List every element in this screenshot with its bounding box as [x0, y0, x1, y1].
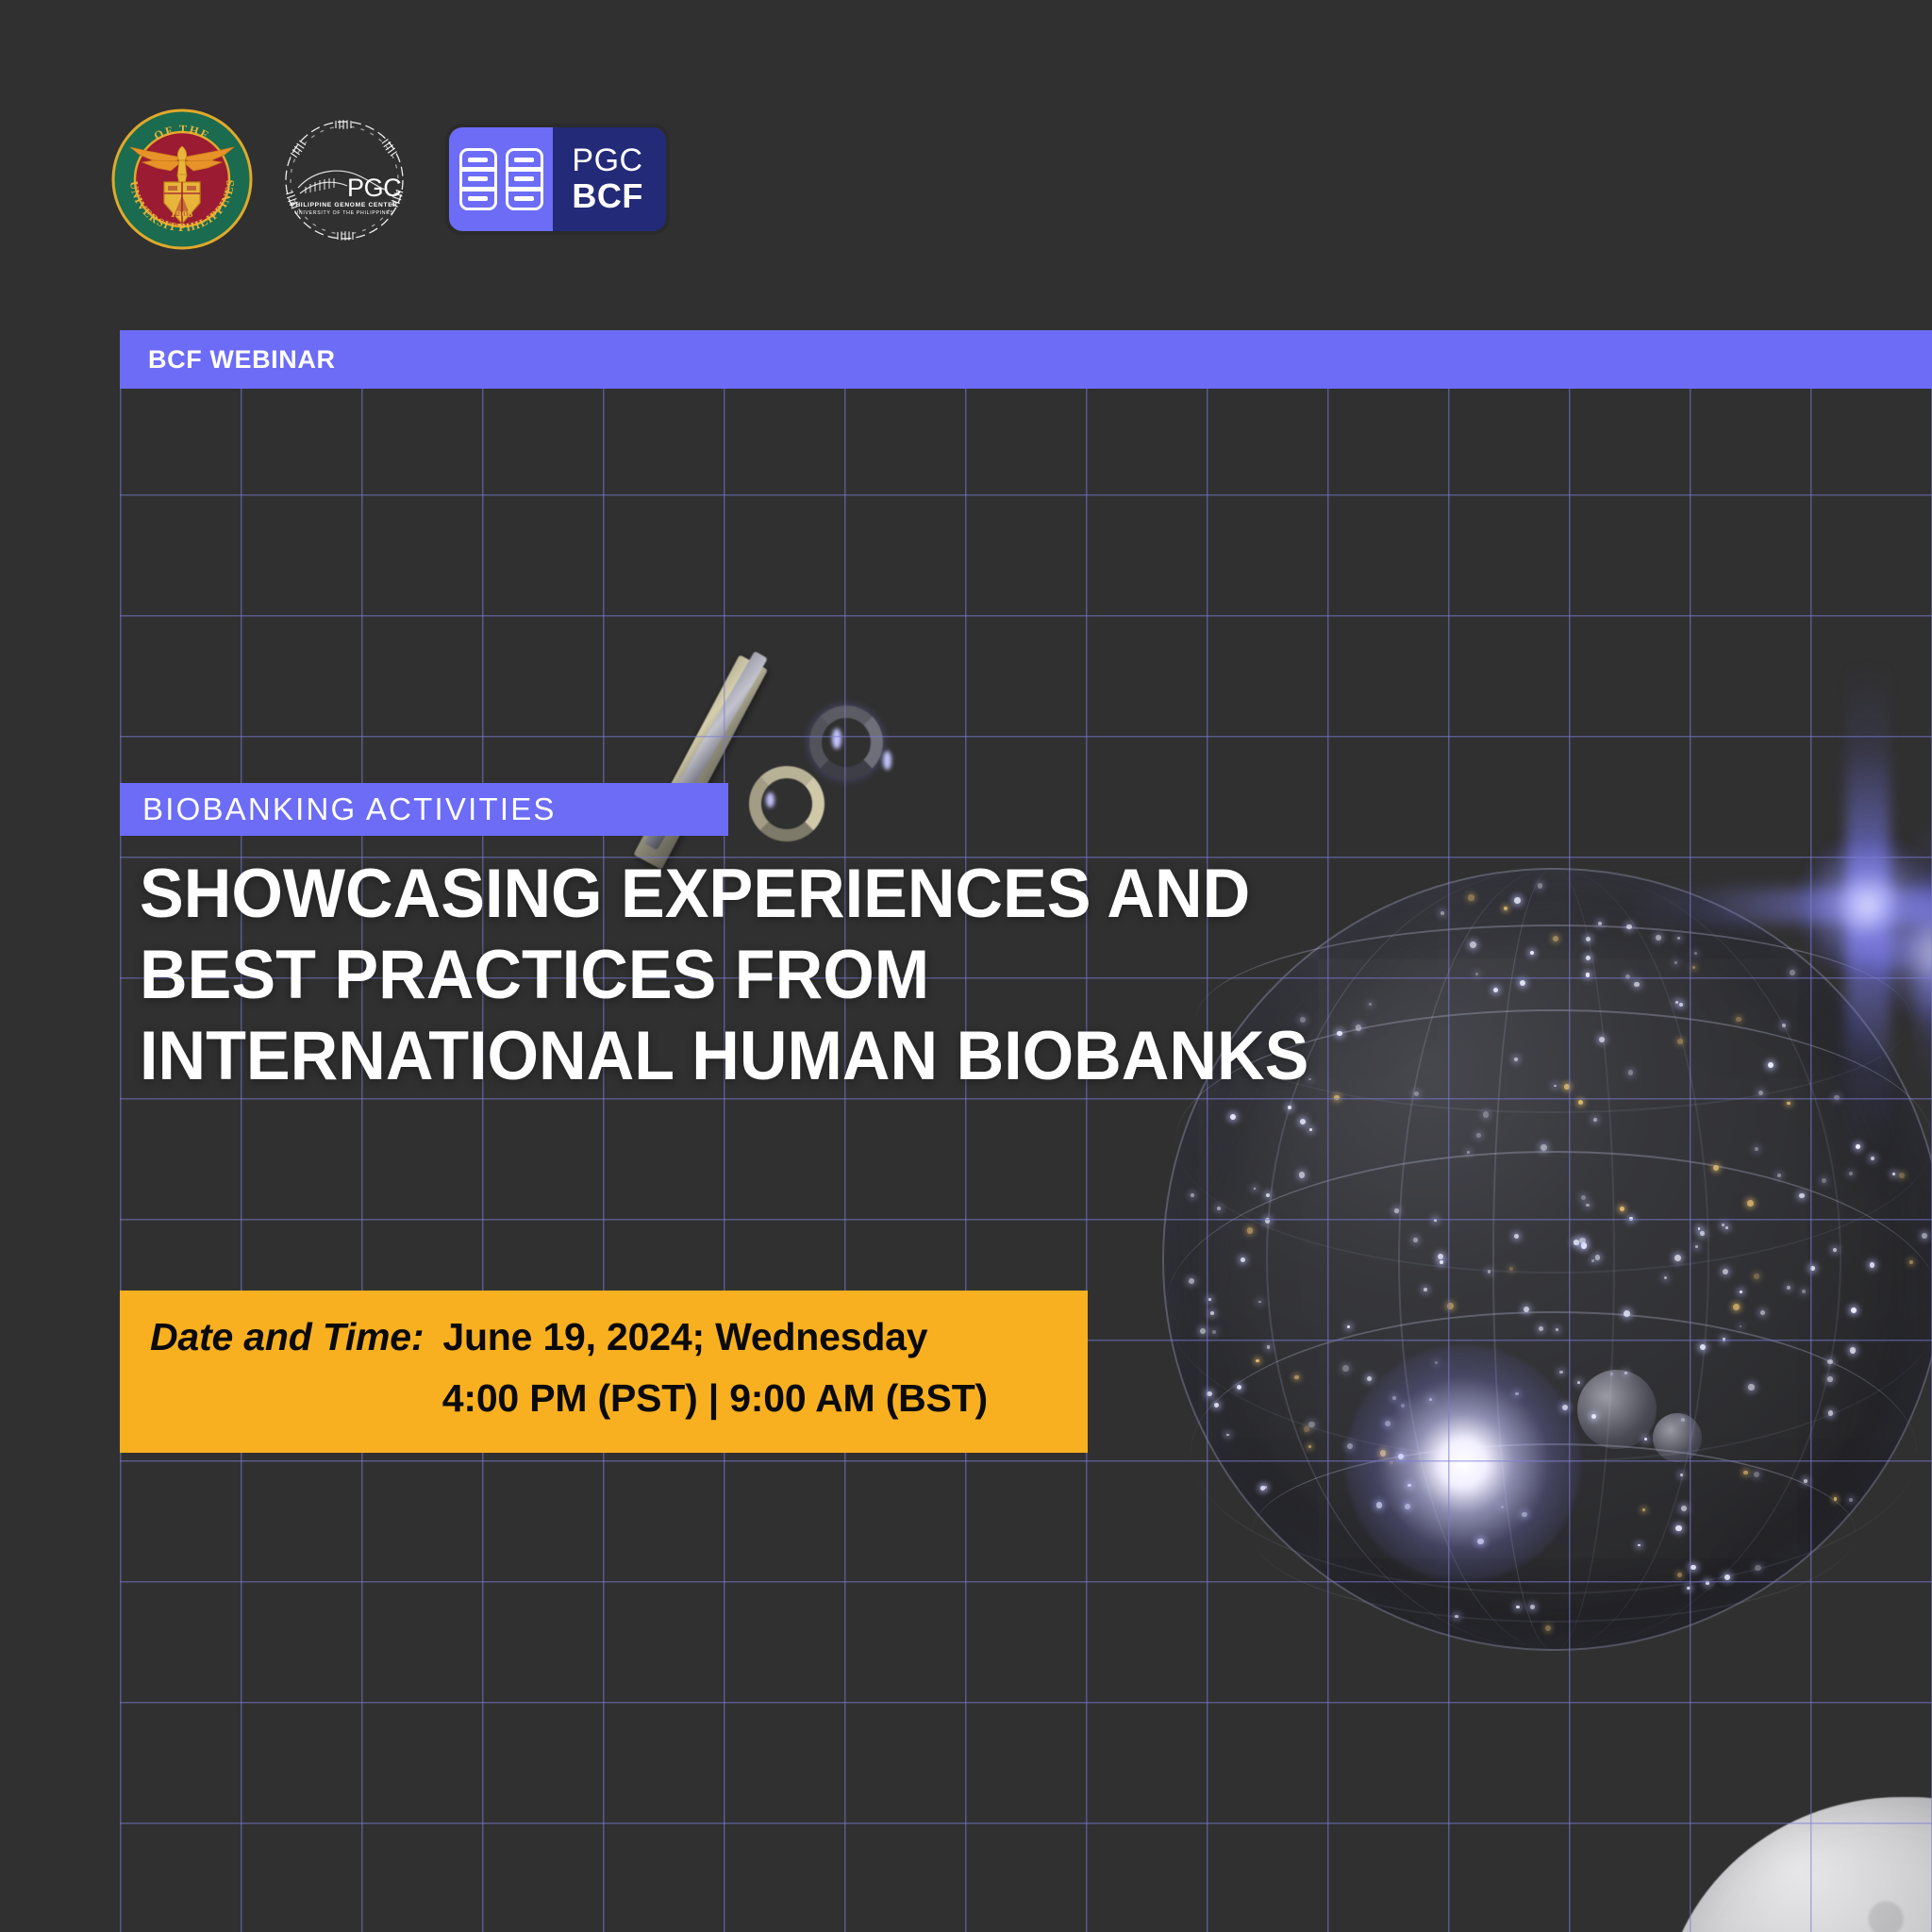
globe-node-dot — [1740, 1325, 1742, 1328]
globe-node-dot — [1483, 1111, 1489, 1117]
globe-node-dot — [1740, 1291, 1742, 1293]
globe-node-dot — [1687, 1587, 1690, 1591]
globe-node-dot — [1524, 1307, 1529, 1312]
globe-node-dot — [1849, 1498, 1853, 1502]
schedule-date-value: June 19, 2024; Wednesday — [442, 1315, 927, 1359]
abstract-3d-sculpture — [726, 660, 924, 877]
globe-node-dot — [1754, 1472, 1759, 1477]
globe-node-dot — [1304, 1426, 1309, 1432]
globe-node-dot — [1748, 1384, 1755, 1391]
globe-node-dot — [1680, 1474, 1683, 1476]
globe-node-dot — [1214, 1403, 1220, 1408]
schedule-date-row: Date and Time: June 19, 2024; Wednesday — [150, 1315, 1056, 1359]
globe-node-dot — [1509, 1267, 1513, 1271]
poster-canvas: OF THE UNIVERSITY PHILIPPINES 1908 — [0, 0, 1932, 1932]
globe-node-dot — [1724, 1574, 1730, 1580]
up-seal-logo: OF THE UNIVERSITY PHILIPPINES 1908 — [111, 108, 253, 250]
globe-node-dot — [1681, 1506, 1687, 1511]
globe-node-dot — [1579, 1238, 1585, 1243]
globe-node-dot — [1620, 1207, 1624, 1211]
globe-node-dot — [1725, 1226, 1728, 1229]
globe-node-dot — [1217, 1207, 1221, 1210]
globe-node-dot — [1308, 1422, 1314, 1427]
globe-node-dot — [1624, 1310, 1630, 1317]
globe-node-dot — [1440, 1260, 1444, 1265]
globe-node-dot — [1690, 1565, 1695, 1570]
globe-node-dot — [1256, 1359, 1259, 1363]
globe-node-dot — [1871, 1157, 1875, 1161]
globe-node-dot — [1586, 1204, 1589, 1207]
globe-node-dot — [1516, 1606, 1520, 1609]
globe-node-dot — [1266, 1193, 1270, 1197]
globe-node-dot — [1593, 1118, 1597, 1122]
globe-node-dot — [1777, 1174, 1781, 1177]
globe-node-dot — [1191, 1193, 1194, 1197]
globe-node-dot — [1700, 1231, 1704, 1235]
sculpture-ring-gray — [809, 706, 883, 779]
globe-node-dot — [1288, 1106, 1291, 1109]
pgc-bcf-logo: PGC BCF — [449, 127, 666, 231]
sculpture-highlight — [766, 792, 774, 808]
title-line-1: SHOWCASING EXPERIENCES AND — [140, 854, 1553, 935]
rock-surface-shading — [1660, 1797, 1932, 1932]
globe-node-dot — [1226, 1434, 1229, 1437]
pgc-dna-circle-icon: PGC PHILIPPINE GENOME CENTER UNIVERSITY … — [274, 108, 415, 250]
pgc-logo: PGC PHILIPPINE GENOME CENTER UNIVERSITY … — [274, 108, 415, 250]
globe-node-dot — [1577, 1381, 1580, 1384]
globe-node-dot — [1267, 1345, 1271, 1349]
up-seal-icon: OF THE UNIVERSITY PHILIPPINES 1908 — [111, 108, 253, 250]
globe-node-dot — [1545, 1625, 1551, 1631]
globe-node-dot — [1827, 1359, 1832, 1364]
webinar-banner: BCF WEBINAR — [120, 330, 1932, 389]
globe-node-dot — [1212, 1330, 1216, 1334]
globe-node-dot — [1230, 1114, 1236, 1120]
globe-node-dot — [1556, 1328, 1558, 1331]
globe-node-dot — [1870, 1262, 1875, 1268]
white-light-burst — [1345, 1345, 1581, 1581]
globe-node-dot — [1347, 1325, 1350, 1328]
globe-node-dot — [1467, 1151, 1470, 1154]
globe-node-dot — [1424, 1288, 1427, 1291]
page-title: SHOWCASING EXPERIENCES AND BEST PRACTICE… — [140, 854, 1611, 1097]
globe-node-dot — [1581, 1195, 1586, 1200]
glow-bead — [1653, 1413, 1702, 1462]
globe-node-dot — [1308, 1445, 1311, 1448]
svg-text:PGC: PGC — [347, 174, 401, 202]
globe-node-dot — [1698, 1227, 1701, 1230]
globe-node-dot — [1247, 1227, 1253, 1233]
bcf-badge-bcf-label: BCF — [572, 178, 643, 214]
globe-node-dot — [1804, 1479, 1807, 1483]
sculpture-highlight — [883, 751, 891, 770]
globe-node-dot — [1241, 1257, 1245, 1262]
category-tag-label: BIOBANKING ACTIVITIES — [142, 791, 557, 827]
globe-node-dot — [1309, 1128, 1312, 1131]
webinar-banner-label: BCF WEBINAR — [148, 345, 336, 375]
bcf-badge-icon-panel — [449, 127, 553, 231]
globe-node-dot — [1713, 1165, 1719, 1171]
globe-node-dot — [1530, 1605, 1535, 1609]
globe-node-dot — [1210, 1311, 1214, 1315]
globe-node-dot — [1754, 1274, 1759, 1279]
bcf-badge-text-panel: PGC BCF — [553, 127, 666, 231]
globe-node-dot — [1743, 1471, 1747, 1474]
globe-node-dot — [1799, 1193, 1804, 1198]
schedule-time-row: 4:00 PM (PST) | 9:00 AM (BST) — [150, 1376, 1056, 1421]
globe-node-dot — [1722, 1224, 1724, 1226]
globe-node-dot — [1827, 1376, 1832, 1381]
globe-node-dot — [1723, 1338, 1725, 1341]
globe-node-dot — [1828, 1410, 1833, 1415]
server-rack-icon — [506, 148, 543, 210]
logo-row: OF THE UNIVERSITY PHILIPPINES 1908 — [111, 108, 666, 250]
category-tag: BIOBANKING ACTIVITIES — [120, 783, 728, 836]
globe-node-dot — [1723, 1269, 1728, 1274]
globe-node-dot — [1189, 1278, 1194, 1284]
globe-node-dot — [1833, 1248, 1838, 1253]
globe-node-dot — [1909, 1260, 1914, 1265]
globe-node-dot — [1747, 1200, 1754, 1207]
globe-node-dot — [1342, 1365, 1349, 1372]
title-line-2: BEST PRACTICES FROM — [140, 935, 1553, 1016]
sculpture-ring-gold — [749, 766, 824, 841]
globe-node-dot — [1254, 1188, 1257, 1191]
globe-node-dot — [1581, 1242, 1588, 1249]
globe-node-dot — [1488, 1270, 1491, 1274]
flare-core — [1868, 882, 1932, 1024]
globe-node-dot — [1700, 1344, 1706, 1350]
globe-node-dot — [1578, 1100, 1583, 1105]
globe-node-dot — [1595, 1255, 1601, 1260]
globe-node-dot — [1200, 1328, 1206, 1334]
svg-text:UNIVERSITY OF THE PHILIPPINES: UNIVERSITY OF THE PHILIPPINES — [294, 210, 393, 216]
globe-node-dot — [1675, 1525, 1681, 1531]
globe-node-dot — [1514, 1234, 1519, 1239]
glow-bead — [1577, 1370, 1657, 1449]
globe-node-dot — [1447, 1303, 1454, 1309]
globe-node-dot — [1810, 1266, 1815, 1271]
globe-node-dot — [1574, 1240, 1578, 1244]
globe-node-dot — [1394, 1208, 1398, 1212]
lunar-rock-fragment — [1660, 1797, 1932, 1932]
globe-node-dot — [1258, 1301, 1261, 1304]
globe-node-dot — [1207, 1391, 1212, 1397]
title-line-3: INTERNATIONAL HUMAN BIOBANKS — [140, 1016, 1553, 1097]
globe-node-dot — [1299, 1172, 1305, 1177]
bcf-badge: PGC BCF — [449, 127, 666, 231]
globe-node-dot — [1802, 1290, 1806, 1293]
globe-node-dot — [1265, 1218, 1271, 1224]
globe-node-dot — [1787, 1286, 1790, 1290]
globe-node-dot — [1706, 1581, 1709, 1585]
schedule-box: Date and Time: June 19, 2024; Wednesday … — [120, 1291, 1088, 1453]
globe-node-dot — [1591, 1259, 1594, 1262]
schedule-time-value: 4:00 PM (PST) | 9:00 AM (BST) — [442, 1376, 988, 1420]
globe-node-dot — [1851, 1307, 1857, 1313]
globe-node-dot — [1438, 1254, 1443, 1259]
globe-node-dot — [1664, 1276, 1667, 1279]
globe-node-dot — [1733, 1304, 1740, 1310]
globe-node-dot — [1413, 1238, 1417, 1241]
globe-node-dot — [1760, 1310, 1765, 1315]
globe-node-dot — [1638, 1544, 1641, 1547]
globe-node-dot — [1264, 1486, 1267, 1489]
globe-node-dot — [1892, 1173, 1895, 1175]
globe-node-dot — [1899, 1173, 1905, 1178]
globe-node-dot — [1541, 1144, 1547, 1151]
globe-node-dot — [1677, 1573, 1682, 1577]
globe-node-dot — [1674, 1255, 1681, 1261]
globe-node-dot — [1755, 1565, 1760, 1571]
globe-node-dot — [1434, 1219, 1437, 1222]
globe-node-dot — [1850, 1347, 1857, 1354]
server-rack-icon — [459, 148, 497, 210]
globe-node-dot — [1629, 1217, 1632, 1220]
globe-node-dot — [1834, 1497, 1838, 1501]
sculpture-highlight — [832, 728, 841, 749]
globe-node-dot — [1208, 1298, 1211, 1301]
globe-node-dot — [1539, 1326, 1544, 1332]
blue-lens-flare-star-small — [1797, 811, 1932, 1094]
globe-node-dot — [1476, 1133, 1481, 1138]
globe-node-dot — [1455, 1615, 1458, 1619]
globe-node-dot — [1822, 1178, 1826, 1183]
globe-node-dot — [1300, 1119, 1307, 1125]
globe-node-dot — [1642, 1508, 1645, 1511]
globe-node-dot — [1922, 1233, 1927, 1239]
globe-node-dot — [1695, 1245, 1698, 1248]
globe-node-dot — [1849, 1172, 1854, 1176]
globe-node-dot — [1367, 1376, 1372, 1381]
globe-node-dot — [1559, 1371, 1563, 1374]
svg-text:PHILIPPINE GENOME CENTER: PHILIPPINE GENOME CENTER — [291, 202, 398, 208]
bcf-badge-pgc-label: PGC — [572, 144, 642, 176]
globe-node-dot — [1294, 1375, 1299, 1380]
schedule-label: Date and Time: — [150, 1315, 424, 1359]
globe-node-dot — [1237, 1385, 1241, 1390]
